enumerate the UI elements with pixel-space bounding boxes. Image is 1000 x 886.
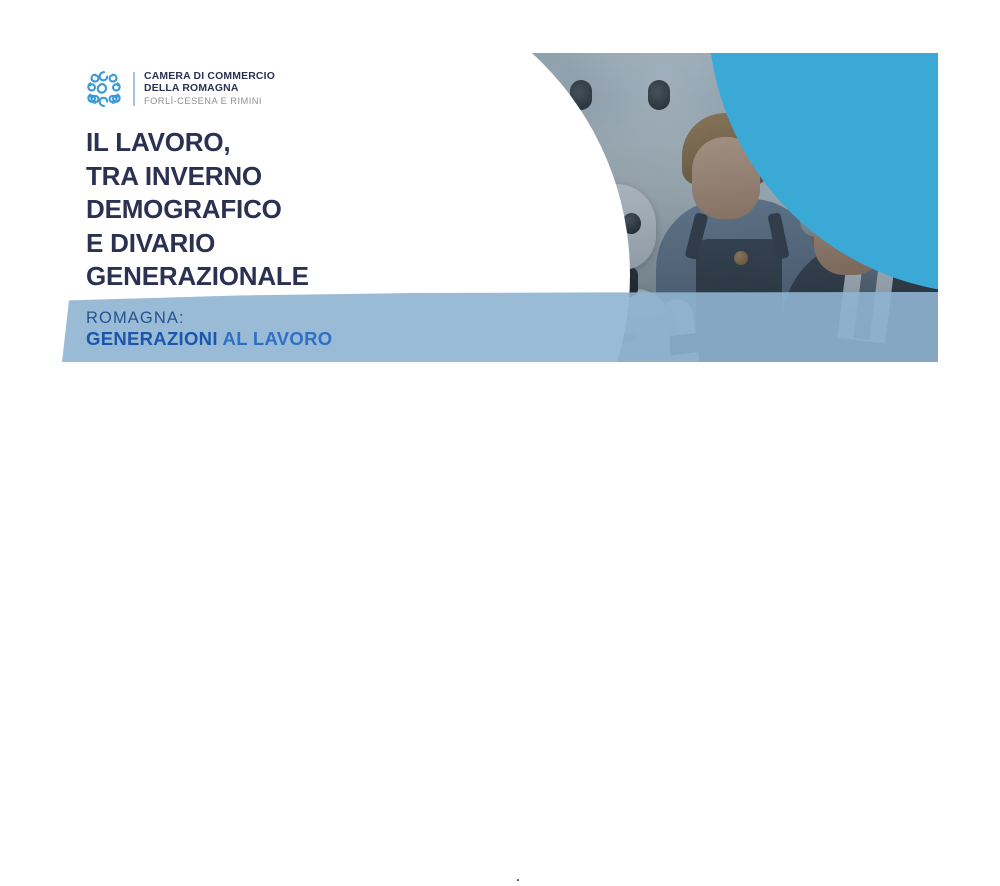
logo-divider <box>133 72 135 106</box>
subtitle-headline-bold: GENERAZIONI <box>86 328 218 349</box>
page-title: IL LAVORO, TRA INVERNO DEMOGRAFICO E DIV… <box>86 126 309 294</box>
subtitle-eyebrow: ROMAGNA: <box>86 309 332 328</box>
page-title-line-3: DEMOGRAFICO <box>86 193 309 227</box>
subtitle-band-text: ROMAGNA: GENERAZIONI AL LAVORO <box>86 309 332 350</box>
subtitle-band: ROMAGNA: GENERAZIONI AL LAVORO <box>62 292 938 362</box>
page-title-line-5: GENERAZIONALE <box>86 260 309 294</box>
logo-text-block: CAMERA DI COMMERCIO DELLA ROMAGNA FORLÌ-… <box>144 71 275 108</box>
page-title-line-4: E DIVARIO <box>86 227 309 261</box>
logo-line-1: CAMERA DI COMMERCIO <box>144 71 275 83</box>
chamber-of-commerce-logo: CAMERA DI COMMERCIO DELLA ROMAGNA FORLÌ-… <box>84 68 275 110</box>
page-title-line-2: TRA INVERNO <box>86 160 309 194</box>
subtitle-headline-light: AL LAVORO <box>218 328 333 349</box>
camera-di-commercio-swirl-logo-icon <box>84 68 124 110</box>
page-title-line-1: IL LAVORO, <box>86 126 309 160</box>
body-period-mark: . <box>516 868 520 886</box>
subtitle-headline: GENERAZIONI AL LAVORO <box>86 328 332 349</box>
logo-line-2: DELLA ROMAGNA <box>144 83 275 95</box>
hero-banner: CAMERA DI COMMERCIO DELLA ROMAGNA FORLÌ-… <box>0 0 1000 370</box>
page-body: . <box>0 370 1000 588</box>
logo-line-3: FORLÌ-CESENA E RIMINI <box>144 96 275 107</box>
